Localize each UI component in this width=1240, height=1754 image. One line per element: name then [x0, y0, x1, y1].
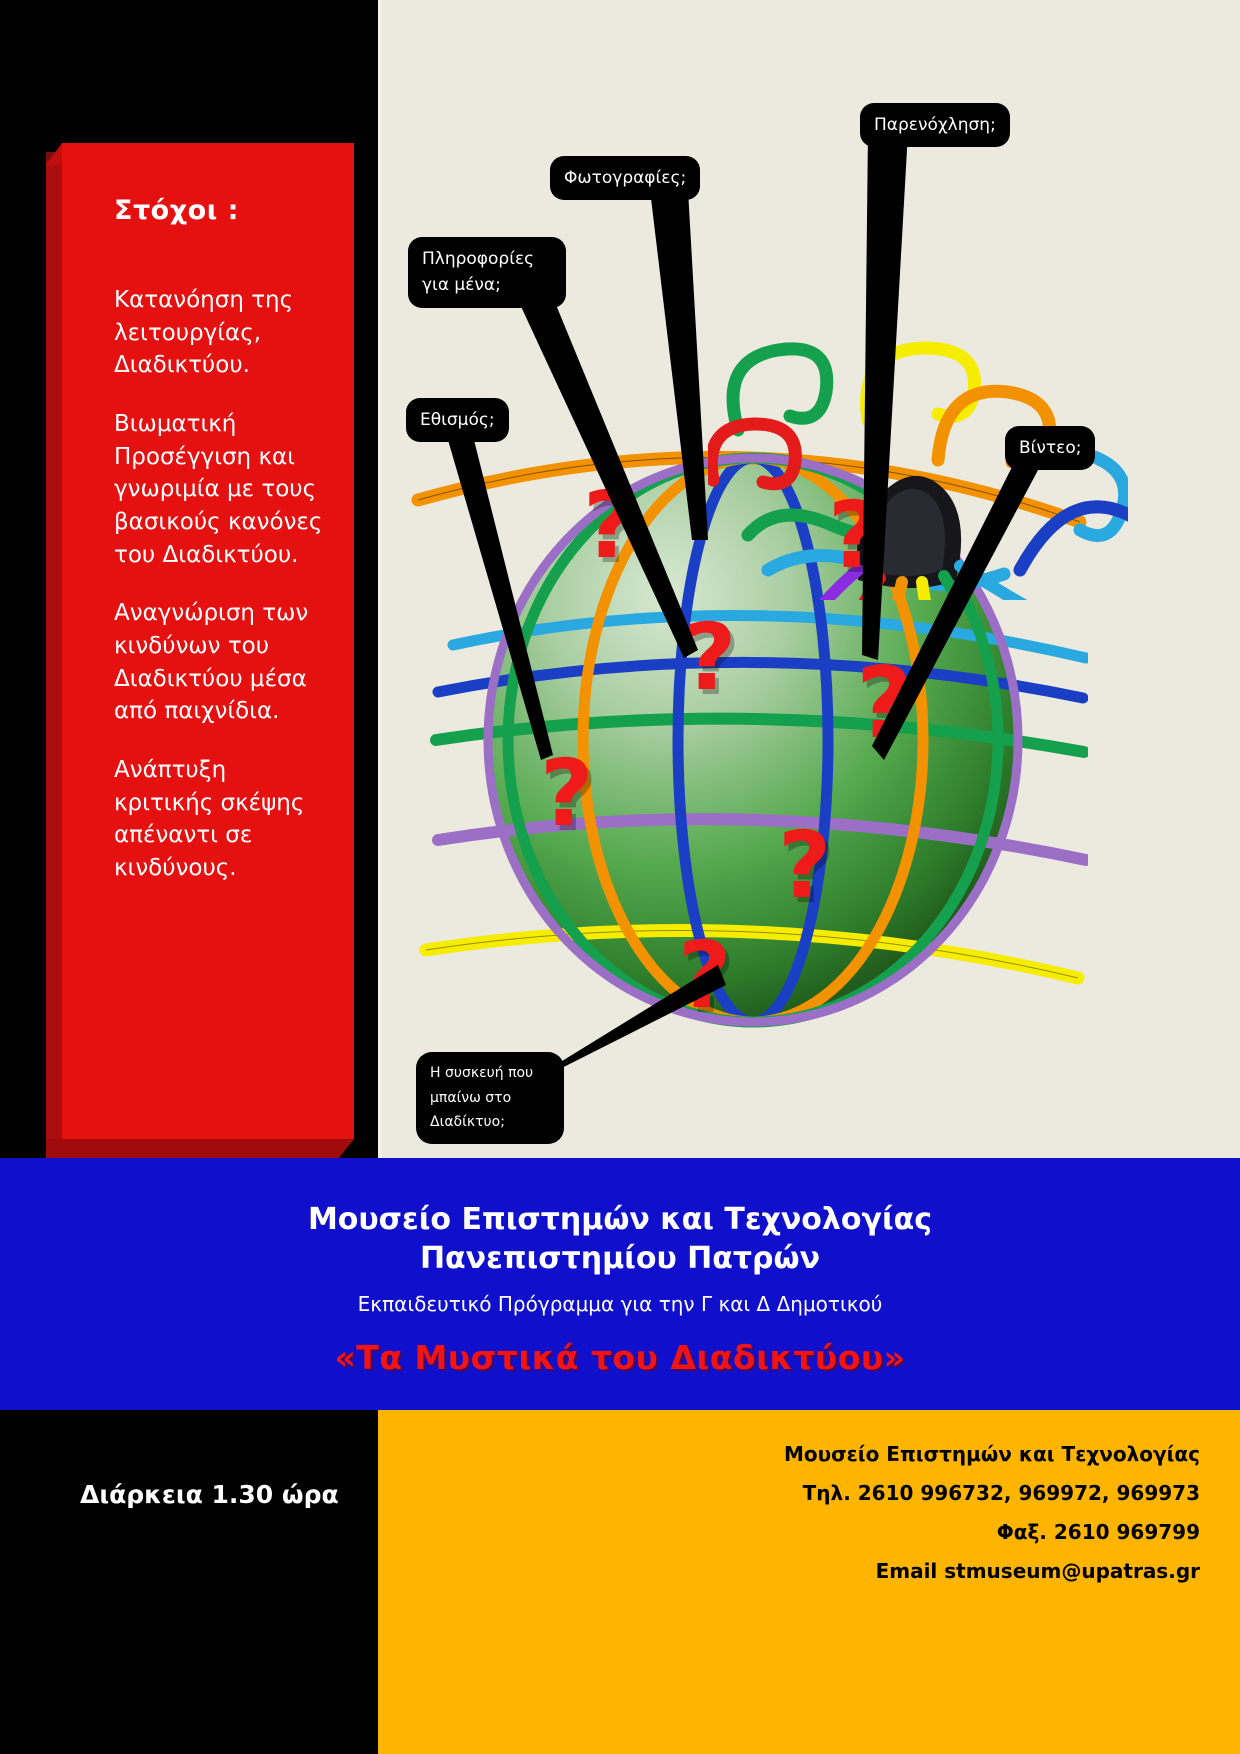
callout-device[interactable]: Η συσκευή που μπαίνω στο Διαδίκτυο; — [416, 1052, 564, 1144]
contact-line-4: Email stmuseum@upatras.gr — [378, 1557, 1200, 1586]
goals-panel: Στόχοι : Κατανόηση της λειτουργίας, Διαδ… — [62, 143, 354, 1139]
goals-panel-bottom-face — [46, 1139, 354, 1159]
question-mark: ? — [683, 612, 736, 704]
goal-item-4: Ανάπτυξη κριτικής σκέψης απέναντι σε κιν… — [114, 754, 328, 885]
contact-line-1: Μουσείο Επιστημών και Τεχνολογίας — [378, 1440, 1200, 1469]
question-mark: ? — [678, 930, 731, 1022]
callout-info-about-me[interactable]: Πληροφορίες για μένα; — [408, 237, 566, 308]
contact-block: Μουσείο Επιστημών και Τεχνολογίας Τηλ. 2… — [378, 1410, 1240, 1754]
question-mark: ? — [856, 655, 913, 753]
question-mark: ? — [540, 748, 593, 840]
program-title: «Τα Μυστικά του Διαδικτύου» — [0, 1338, 1240, 1377]
callout-addiction[interactable]: Εθισμός; — [406, 398, 509, 442]
goal-item-3: Αναγνώριση των κινδύνων του Διαδικτύου μ… — [114, 597, 328, 728]
goals-title: Στόχοι : — [114, 195, 328, 226]
goals-panel-left-face — [46, 152, 63, 1140]
contact-line-3: Φαξ. 2610 969799 — [378, 1518, 1200, 1547]
contact-line-2: Τηλ. 2610 996732, 969972, 969973 — [378, 1479, 1200, 1508]
goal-item-1: Κατανόηση της λειτουργίας, Διαδικτύου. — [114, 284, 328, 382]
museum-name-line1: Μουσείο Επιστημών και Τεχνολογίας — [308, 1202, 932, 1237]
artboard-edge — [378, 0, 382, 1158]
museum-name-line2: Πανεπιστημίου Πατρών — [420, 1241, 820, 1276]
callout-harassment[interactable]: Παρενόχληση; — [860, 103, 1010, 147]
goal-item-2: Βιωματική Προσέγγιση και γνωριμία με του… — [114, 408, 328, 571]
question-mark: ? — [828, 490, 881, 582]
program-subtitle: Εκπαιδευτικό Πρόγραμμα για την Γ και Δ Δ… — [0, 1292, 1240, 1316]
museum-name: Μουσείο Επιστημών και Τεχνολογίας Πανεπι… — [0, 1158, 1240, 1278]
question-mark: ? — [778, 820, 831, 912]
blue-banner: Μουσείο Επιστημών και Τεχνολογίας Πανεπι… — [0, 1158, 1240, 1410]
callout-video[interactable]: Βίντεο; — [1005, 426, 1095, 470]
poster: ? ? ? ? ? ? ? Παρενόχληση; Φωτογραφίες; … — [0, 0, 1240, 1754]
artwork-area: ? ? ? ? ? ? ? Παρενόχληση; Φωτογραφίες; … — [378, 0, 1240, 1158]
goals-panel-content: Στόχοι : Κατανόηση της λειτουργίας, Διαδ… — [62, 143, 354, 1139]
callout-photos[interactable]: Φωτογραφίες; — [550, 156, 700, 200]
duration-label: Διάρκεια 1.30 ώρα — [80, 1480, 339, 1509]
question-mark: ? — [583, 480, 636, 572]
globe-illustration — [408, 430, 1088, 1050]
